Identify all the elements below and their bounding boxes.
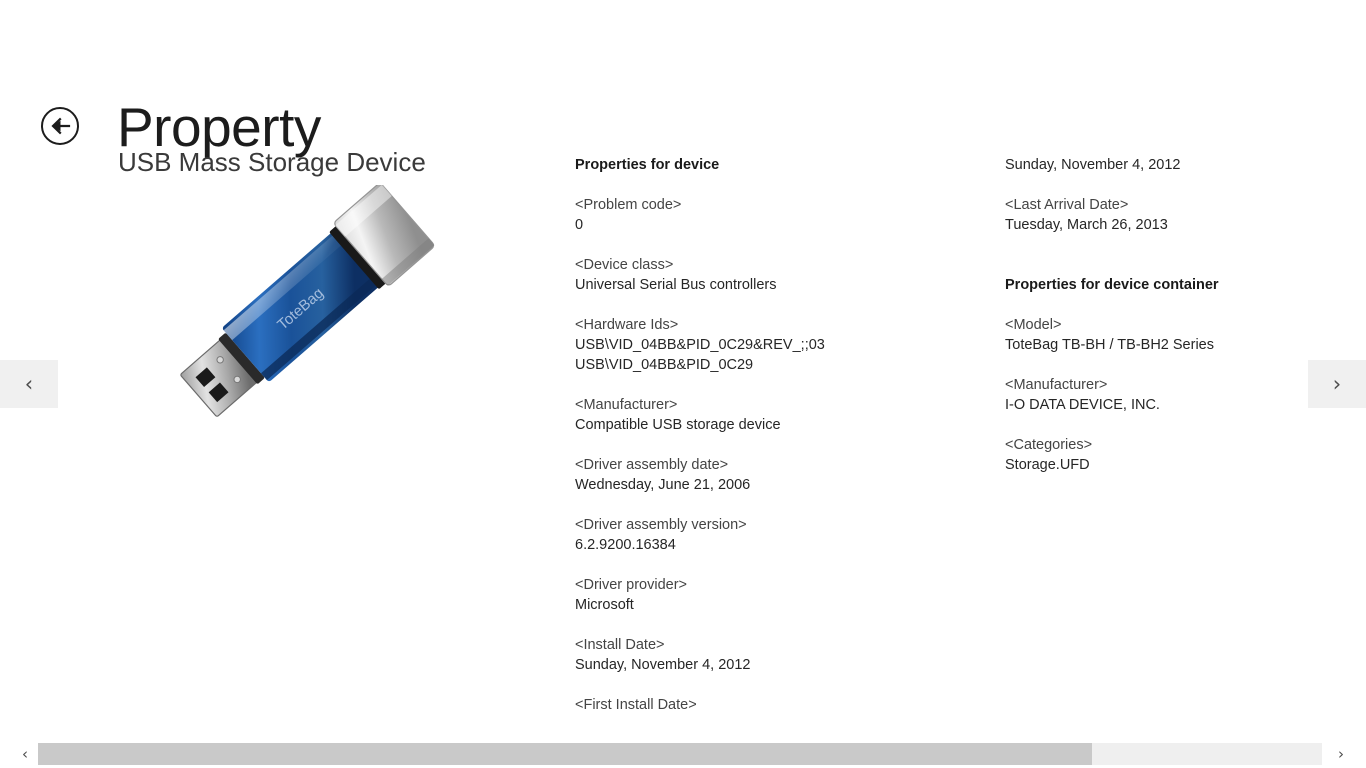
properties-area: Properties for device <Problem code> 0 <… [575,155,1335,725]
chevron-left-icon: ‹ [22,745,28,763]
property-label: <Hardware Ids> [575,315,975,335]
property-entry: <Install Date> Sunday, November 4, 2012 [575,635,975,675]
property-value: 0 [575,215,975,235]
property-entry: <Manufacturer> Compatible USB storage de… [575,395,975,435]
section-heading-device-container: Properties for device container [1005,275,1366,295]
chevron-right-icon: › [1333,374,1341,395]
property-entry: <First Install Date> [575,695,975,715]
property-value: Compatible USB storage device [575,415,975,435]
property-value: Universal Serial Bus controllers [575,275,975,295]
horizontal-scrollbar[interactable]: ‹ › [0,740,1366,768]
property-label: <Last Arrival Date> [1005,195,1366,215]
previous-device-button[interactable]: ‹ [0,360,58,408]
property-value: Sunday, November 4, 2012 [575,655,975,675]
device-name: USB Mass Storage Device [118,146,426,178]
property-entry-continued: Sunday, November 4, 2012 [1005,155,1366,175]
properties-column-device: Properties for device <Problem code> 0 <… [575,155,975,735]
properties-column-container: Sunday, November 4, 2012 <Last Arrival D… [1005,155,1366,495]
scrollbar-track[interactable] [38,743,1328,765]
chevron-right-icon: › [1338,745,1344,763]
property-label: <Categories> [1005,435,1366,455]
property-label: <Driver assembly version> [575,515,975,535]
property-label: <Problem code> [575,195,975,215]
page-header: Property [0,44,1366,124]
property-label: <Manufacturer> [575,395,975,415]
back-arrow-circle-icon[interactable] [41,107,79,145]
property-value: Storage.UFD [1005,455,1366,475]
column-spacer [1005,255,1366,275]
property-value: Tuesday, March 26, 2013 [1005,215,1366,235]
property-value: USB\VID_04BB&PID_0C29&REV_;;03 [575,335,975,355]
property-label: <Install Date> [575,635,975,655]
property-entry: <Categories> Storage.UFD [1005,435,1366,475]
property-value: Wednesday, June 21, 2006 [575,475,975,495]
property-entry: <Last Arrival Date> Tuesday, March 26, 2… [1005,195,1366,235]
next-device-button[interactable]: › [1308,360,1366,408]
property-value: Sunday, November 4, 2012 [1005,155,1366,175]
property-entry: <Model> ToteBag TB-BH / TB-BH2 Series [1005,315,1366,355]
usb-flash-drive-image: ToteBag [120,185,440,465]
property-page: Property USB Mass Storage Device [0,0,1366,768]
property-value: USB\VID_04BB&PID_0C29 [575,355,975,375]
section-heading-device: Properties for device [575,155,975,175]
property-label: <Driver provider> [575,575,975,595]
property-value: Microsoft [575,595,975,615]
scroll-right-button[interactable]: › [1322,740,1360,768]
property-entry: <Driver provider> Microsoft [575,575,975,615]
property-label: <Driver assembly date> [575,455,975,475]
property-value: ToteBag TB-BH / TB-BH2 Series [1005,335,1366,355]
scrollbar-thumb[interactable] [38,743,1092,765]
property-value: 6.2.9200.16384 [575,535,975,555]
property-entry: <Hardware Ids> USB\VID_04BB&PID_0C29&REV… [575,315,975,375]
property-label: <Device class> [575,255,975,275]
chevron-left-icon: ‹ [25,374,33,395]
property-entry: <Device class> Universal Serial Bus cont… [575,255,975,295]
property-label: <First Install Date> [575,695,975,715]
property-entry: <Driver assembly date> Wednesday, June 2… [575,455,975,495]
property-entry: <Problem code> 0 [575,195,975,235]
property-label: <Model> [1005,315,1366,335]
property-entry: <Driver assembly version> 6.2.9200.16384 [575,515,975,555]
